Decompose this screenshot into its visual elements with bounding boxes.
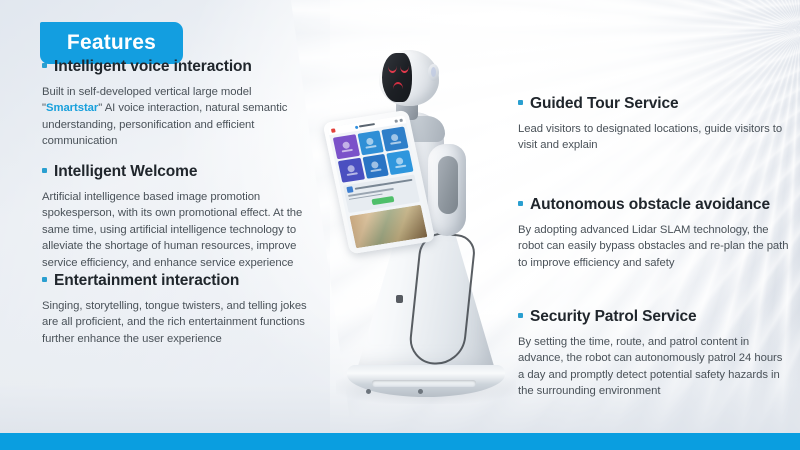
- robot-mouth-icon: [393, 82, 403, 89]
- tile-label: [371, 168, 382, 172]
- feature-body: Artificial intelligence based image prom…: [42, 189, 314, 271]
- wifi-icon: [394, 119, 398, 122]
- feature-title: Autonomous obstacle avoidance: [530, 196, 770, 213]
- feature-body: By setting the time, route, and patrol c…: [518, 334, 790, 400]
- feature-body: Built in self-developed vertical large m…: [42, 84, 314, 150]
- feature-guided-tour-service: Guided Tour Service Lead visitors to des…: [518, 95, 790, 154]
- tile-icon: [366, 137, 374, 145]
- feature-heading: Intelligent voice interaction: [42, 58, 314, 75]
- bullet-icon: [518, 313, 523, 318]
- feature-heading: Security Patrol Service: [518, 308, 790, 325]
- tile-icon: [342, 141, 350, 149]
- info-avatar-icon: [346, 186, 353, 193]
- feature-autonomous-obstacle-avoidance: Autonomous obstacle avoidance By adoptin…: [518, 196, 790, 271]
- features-badge-label: Features: [67, 31, 156, 55]
- bullet-icon: [42, 277, 47, 282]
- tile-label: [346, 172, 357, 176]
- feature-security-patrol-service: Security Patrol Service By setting the t…: [518, 308, 790, 400]
- tablet-tile: [333, 134, 360, 159]
- bullet-icon: [42, 63, 47, 68]
- robot-arm-pad: [438, 156, 458, 214]
- tablet-tile: [387, 150, 414, 175]
- brand-text-placeholder: [359, 123, 375, 127]
- slide-root: Features: [0, 0, 800, 450]
- robot-foot-sensor-right-icon: [418, 389, 423, 394]
- battery-icon: [399, 118, 403, 121]
- feature-body: Singing, storytelling, tongue twisters, …: [42, 298, 314, 347]
- feature-heading: Entertainment interaction: [42, 272, 314, 289]
- robot-face-panel: [382, 53, 412, 102]
- robot-foot-sensor-left-icon: [366, 389, 371, 394]
- tile-label: [366, 145, 377, 149]
- info-action-button: [371, 196, 394, 205]
- feature-intelligent-voice-interaction: Intelligent voice interaction Built in s…: [42, 58, 314, 150]
- bullet-icon: [518, 201, 523, 206]
- feature-heading: Guided Tour Service: [518, 95, 790, 112]
- feature-body: By adopting advanced Lidar SLAM technolo…: [518, 222, 790, 271]
- tile-icon: [347, 165, 355, 173]
- feature-title: Entertainment interaction: [54, 272, 239, 289]
- brand-dot-icon: [355, 125, 359, 128]
- feature-title: Intelligent voice interaction: [54, 58, 252, 75]
- feature-heading: Autonomous obstacle avoidance: [518, 196, 790, 213]
- feature-heading: Intelligent Welcome: [42, 163, 314, 180]
- tile-label: [395, 165, 406, 169]
- feature-entertainment-interaction: Entertainment interaction Singing, story…: [42, 272, 314, 347]
- tile-icon: [391, 134, 399, 142]
- bullet-icon: [518, 100, 523, 105]
- tile-label: [341, 149, 352, 153]
- robot-base-sensor-icon: [396, 295, 403, 303]
- robot-illustration: [330, 40, 520, 410]
- feature-body-highlight: Smartstar: [46, 102, 98, 114]
- feature-title: Guided Tour Service: [530, 95, 679, 112]
- feature-intelligent-welcome: Intelligent Welcome Artificial intellige…: [42, 163, 314, 271]
- bullet-icon: [42, 168, 47, 173]
- tablet-tile: [362, 154, 389, 179]
- tablet-tile: [338, 158, 365, 183]
- feature-body: Lead visitors to designated locations, g…: [518, 121, 790, 154]
- robot-ear: [428, 64, 439, 81]
- tile-label: [390, 141, 401, 145]
- tile-icon: [371, 161, 379, 169]
- bottom-accent-bar: [0, 433, 800, 450]
- tablet-tile: [357, 130, 384, 155]
- record-indicator-icon: [331, 128, 336, 133]
- feature-title: Intelligent Welcome: [54, 163, 197, 180]
- feature-title: Security Patrol Service: [530, 308, 697, 325]
- tablet-tile: [382, 126, 409, 151]
- tile-icon: [396, 157, 404, 165]
- robot-foot-slot: [372, 380, 476, 387]
- robot-tablet-photo: [349, 205, 427, 249]
